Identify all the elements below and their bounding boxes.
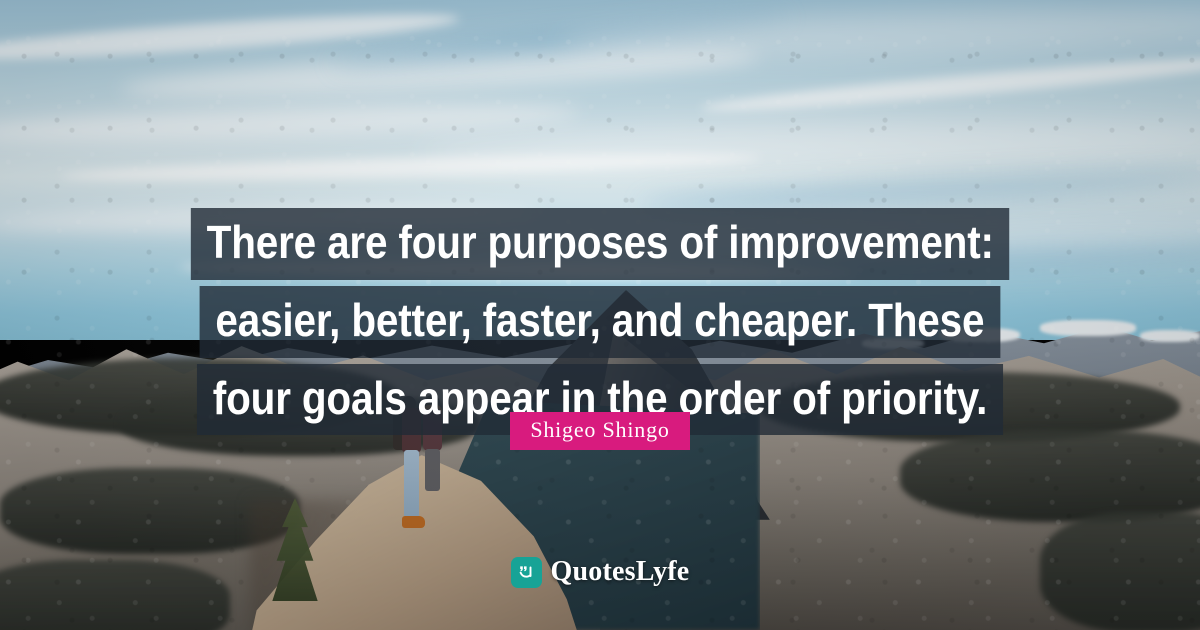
quote-line: There are four purposes of improvement:	[0, 208, 1200, 280]
hiking-boot	[402, 516, 425, 528]
quote-text-block: There are four purposes of improvement: …	[0, 208, 1200, 435]
quote-line-2: easier, better, faster, and cheaper. The…	[200, 286, 1001, 358]
quote-line-1: There are four purposes of improvement:	[191, 208, 1010, 280]
quote-line: easier, better, faster, and cheaper. The…	[0, 286, 1200, 358]
author-name-badge: Shigeo Shingo	[510, 412, 689, 450]
author-badge-wrap: Shigeo Shingo	[0, 412, 1200, 450]
hiker-legs	[425, 449, 440, 491]
quote-image-canvas: There are four purposes of improvement: …	[0, 0, 1200, 630]
brand-watermark: QuotesLyfe	[0, 556, 1200, 588]
brand-name: QuotesLyfe	[551, 556, 690, 588]
hiker-legs	[404, 450, 419, 518]
quote-smiley-icon	[511, 557, 542, 588]
